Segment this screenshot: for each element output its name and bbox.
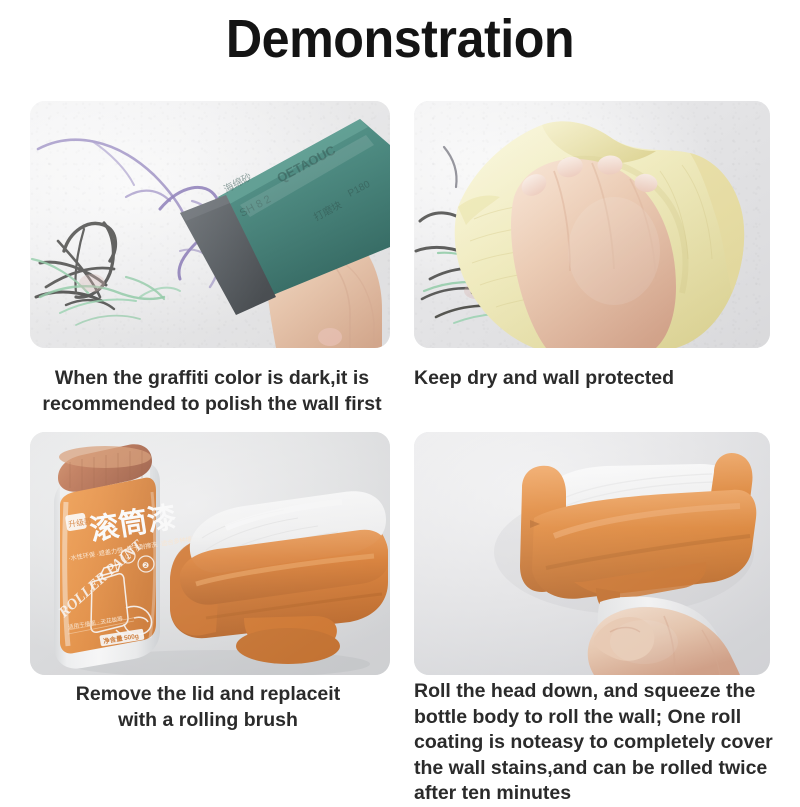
cloth-and-hand-illustration <box>414 101 770 348</box>
demonstration-page: Demonstration <box>0 0 800 800</box>
svg-text:❷: ❷ <box>142 561 149 570</box>
svg-text:①: ① <box>125 553 131 561</box>
hand <box>588 607 740 675</box>
caption-remove-lid: Remove the lid and replaceit with a roll… <box>8 681 408 733</box>
bottle-and-roller-photo: 升级款 滚筒漆 ·水性环保 ·遮盖力强 ·快干耐擦洗 ·适合多种墙面 ROLLE… <box>30 432 390 675</box>
caption-keep-dry: Keep dry and wall protected <box>414 365 786 391</box>
hand <box>511 154 676 348</box>
wipe-wall-photo <box>414 101 770 348</box>
page-title: Demonstration <box>28 8 772 70</box>
caption-polish-wall: When the graffiti color is dark,it is re… <box>12 365 412 417</box>
bottle-and-roller-illustration: 升级款 滚筒漆 ·水性环保 ·遮盖力强 ·快干耐擦洗 ·适合多种墙面 ROLLE… <box>30 432 390 675</box>
roller-on-wall-illustration <box>414 432 770 675</box>
rolling-wall-photo <box>414 432 770 675</box>
polish-wall-photo: QETAOUC SH 8 2 海绵砂 打磨块 P180 <box>30 101 390 348</box>
graffiti-and-sponge-illustration: QETAOUC SH 8 2 海绵砂 打磨块 P180 <box>30 101 390 348</box>
roller-head <box>170 491 388 664</box>
caption-roll-head: Roll the head down, and squeeze the bott… <box>414 679 792 807</box>
